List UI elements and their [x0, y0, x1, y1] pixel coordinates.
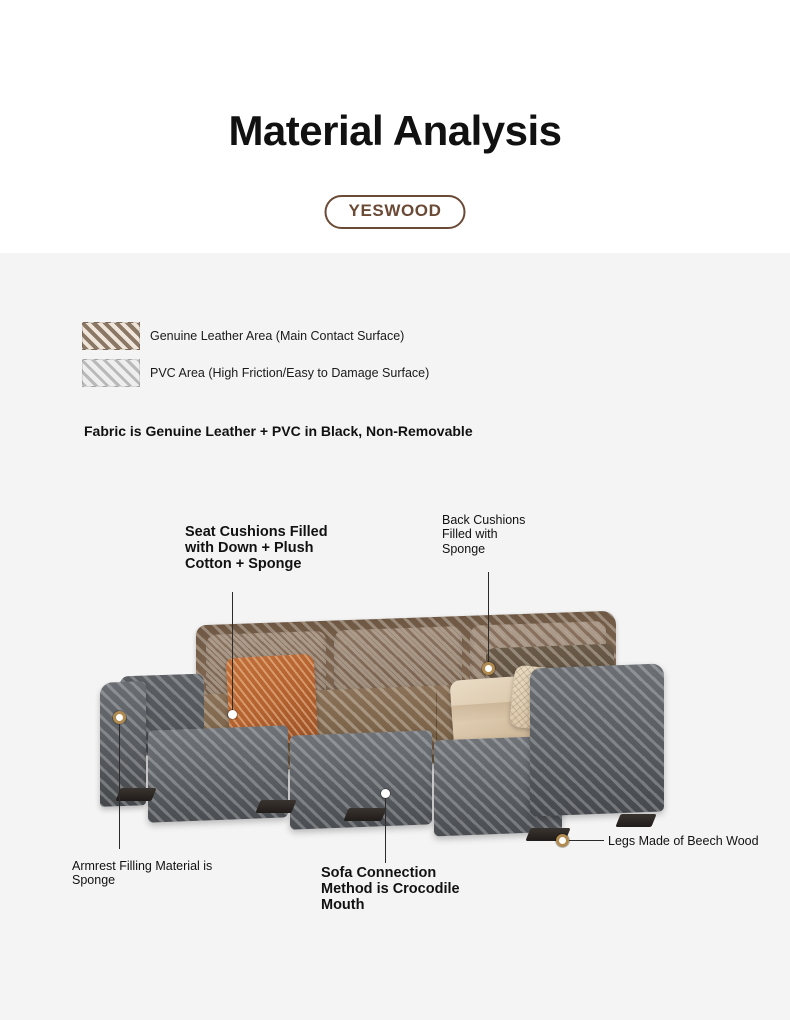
- leader-line-back-cushions: [488, 572, 489, 666]
- annotation-armrest: Armrest Filling Material is Sponge: [72, 859, 232, 888]
- sofa-leg: [255, 800, 296, 813]
- page-title: Material Analysis: [0, 110, 790, 152]
- marker-back-cushions: [482, 662, 495, 675]
- material-analysis-page: Material Analysis YESWOOD Genuine Leathe…: [0, 0, 790, 1020]
- leader-line-connection-method: [385, 798, 386, 863]
- marker-connection-method: [381, 789, 390, 798]
- leader-line-legs: [569, 840, 604, 841]
- legend-label-pvc: PVC Area (High Friction/Easy to Damage S…: [150, 366, 429, 380]
- pvc-hatch-swatch: [82, 359, 140, 387]
- sofa-leg: [615, 814, 656, 827]
- marker-seat-cushions: [228, 710, 237, 719]
- marker-armrest: [113, 711, 126, 724]
- fabric-note: Fabric is Genuine Leather + PVC in Black…: [84, 423, 473, 439]
- annotation-legs: Legs Made of Beech Wood: [608, 834, 790, 848]
- material-legend: Genuine Leather Area (Main Contact Surfa…: [82, 322, 429, 396]
- legend-item-leather: Genuine Leather Area (Main Contact Surfa…: [82, 322, 429, 350]
- marker-legs: [556, 834, 569, 847]
- sofa-right-armrest: [530, 663, 664, 816]
- annotation-connection-method: Sofa Connection Method is Crocodile Mout…: [321, 865, 481, 914]
- annotation-seat-cushions: Seat Cushions Filled with Down + Plush C…: [185, 524, 345, 573]
- annotation-back-cushions: Back Cushions Filled with Sponge: [442, 513, 528, 556]
- leader-line-armrest: [119, 724, 120, 849]
- legend-item-pvc: PVC Area (High Friction/Easy to Damage S…: [82, 359, 429, 387]
- brand-badge: YESWOOD: [325, 195, 466, 229]
- header-band: Material Analysis YESWOOD: [0, 0, 790, 253]
- leader-line-seat-cushions: [232, 592, 233, 714]
- legend-label-leather: Genuine Leather Area (Main Contact Surfa…: [150, 329, 404, 343]
- sofa-leg: [343, 808, 386, 821]
- sofa-leg: [115, 788, 156, 801]
- leather-hatch-swatch: [82, 322, 140, 350]
